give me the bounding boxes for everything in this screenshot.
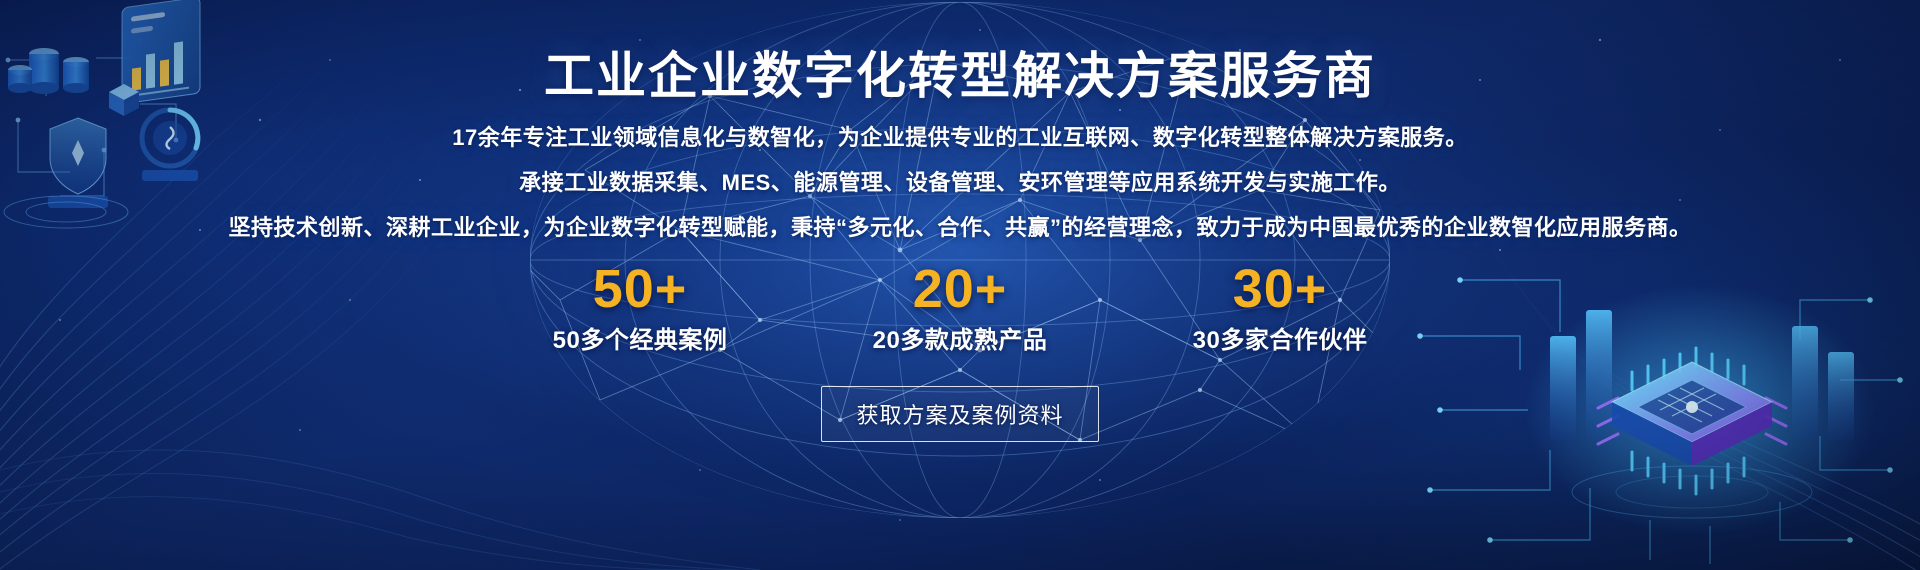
- stat-label-products: 20多款成熟产品: [800, 324, 1120, 358]
- banner-content: 工业企业数字化转型解决方案服务商 17余年专注工业领域信息化与数智化，为企业提供…: [0, 0, 1920, 570]
- stat-item-cases: 50+ 50多个经典案例: [480, 258, 800, 358]
- stat-item-partners: 30+ 30多家合作伙伴: [1120, 258, 1440, 358]
- hero-banner: 工业企业数字化转型解决方案服务商 17余年专注工业领域信息化与数智化，为企业提供…: [0, 0, 1920, 570]
- stat-label-cases: 50多个经典案例: [480, 324, 800, 358]
- page-title: 工业企业数字化转型解决方案服务商: [0, 36, 1920, 108]
- stats-row: 50+ 50多个经典案例 20+ 20多款成熟产品 30+ 30多家合作伙伴: [0, 258, 1920, 358]
- cta-container: 获取方案及案例资料: [0, 386, 1920, 442]
- stat-number-products: 20+: [800, 258, 1120, 320]
- stat-label-partners: 30多家合作伙伴: [1120, 324, 1440, 358]
- get-solution-materials-button[interactable]: 获取方案及案例资料: [821, 386, 1098, 442]
- subtitle-line-3: 坚持技术创新、深耕工业企业，为企业数字化转型赋能，秉持“多元化、合作、共赢”的经…: [0, 205, 1920, 250]
- subtitle-line-2: 承接工业数据采集、MES、能源管理、设备管理、安环管理等应用系统开发与实施工作。: [0, 160, 1920, 205]
- subtitle-line-1: 17余年专注工业领域信息化与数智化，为企业提供专业的工业互联网、数字化转型整体解…: [0, 115, 1920, 160]
- stat-number-cases: 50+: [480, 258, 800, 320]
- stat-item-products: 20+ 20多款成熟产品: [800, 258, 1120, 358]
- subtitle-block: 17余年专注工业领域信息化与数智化，为企业提供专业的工业互联网、数字化转型整体解…: [0, 115, 1920, 250]
- stat-number-partners: 30+: [1120, 258, 1440, 320]
